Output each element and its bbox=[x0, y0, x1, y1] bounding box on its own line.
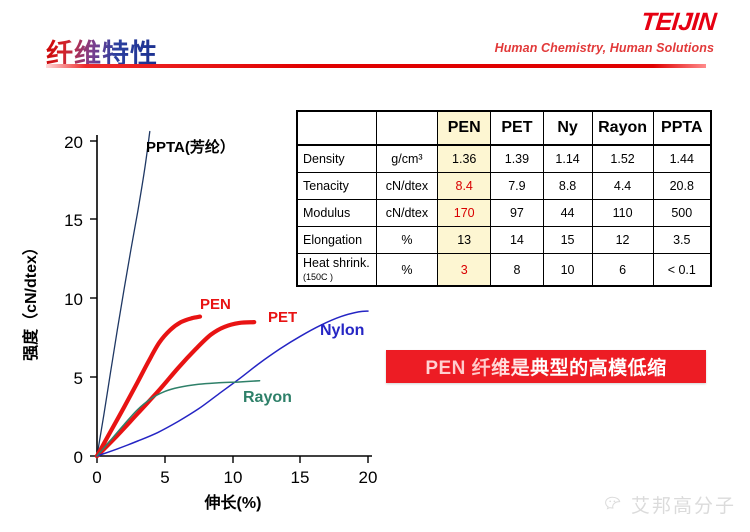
x-axis-tick-labels: 0 5 10 15 20 bbox=[92, 468, 377, 487]
cell-property: Heat shrink.(150C ) bbox=[297, 254, 376, 287]
cell-ny: 8.8 bbox=[543, 173, 592, 200]
curve-label-pen: PEN bbox=[200, 296, 231, 313]
y-tick-0: 0 bbox=[74, 448, 83, 467]
cell-pet: 7.9 bbox=[491, 173, 543, 200]
y-tick-5: 5 bbox=[74, 369, 83, 388]
table-header: PEN PET Ny Rayon PPTA bbox=[297, 111, 711, 145]
table-body: Density g/cm³ 1.36 1.39 1.14 1.52 1.44 T… bbox=[297, 145, 711, 286]
cell-ny: 44 bbox=[543, 200, 592, 227]
cell-property: Tenacity bbox=[297, 173, 376, 200]
slide-canvas: 纤维特性 TEIJIN Human Chemistry, Human Solut… bbox=[0, 0, 750, 532]
table-row: Heat shrink.(150C ) % 3 8 10 6 < 0.1 bbox=[297, 254, 711, 287]
y-axis-tick-labels: 0 5 10 15 20 bbox=[64, 133, 83, 467]
x-tick-10: 10 bbox=[224, 468, 243, 487]
x-axis-ticks bbox=[97, 456, 368, 463]
table-header-row: PEN PET Ny Rayon PPTA bbox=[297, 111, 711, 145]
watermark: 艾邦高分子 bbox=[605, 491, 736, 518]
y-axis-ticks bbox=[90, 141, 97, 456]
wechat-icon bbox=[605, 496, 625, 513]
cell-ppta: 20.8 bbox=[653, 173, 711, 200]
y-tick-15: 15 bbox=[64, 211, 83, 230]
fiber-properties-table: PEN PET Ny Rayon PPTA Density g/cm³ 1.36… bbox=[296, 110, 712, 287]
cell-pen: 1.36 bbox=[438, 145, 491, 173]
teijin-logo: TEIJIN bbox=[640, 8, 718, 37]
cell-ppta: < 0.1 bbox=[653, 254, 711, 287]
cell-ppta: 3.5 bbox=[653, 227, 711, 254]
y-tick-10: 10 bbox=[64, 290, 83, 309]
cell-pet: 1.39 bbox=[491, 145, 543, 173]
cell-pet: 97 bbox=[491, 200, 543, 227]
cell-rayon: 1.52 bbox=[592, 145, 653, 173]
watermark-text: 艾邦高分子 bbox=[631, 491, 736, 518]
x-tick-20: 20 bbox=[359, 468, 378, 487]
cell-unit: cN/dtex bbox=[376, 173, 437, 200]
cell-pen: 170 bbox=[438, 200, 491, 227]
cell-ny: 1.14 bbox=[543, 145, 592, 173]
y-tick-20: 20 bbox=[64, 133, 83, 152]
cell-pen: 8.4 bbox=[438, 173, 491, 200]
cell-ny: 15 bbox=[543, 227, 592, 254]
highlight-banner: PEN 纤维是典型的高模低缩 bbox=[386, 350, 706, 383]
title-underline-rule bbox=[46, 64, 706, 68]
x-tick-0: 0 bbox=[92, 468, 101, 487]
slide-header: 纤维特性 TEIJIN Human Chemistry, Human Solut… bbox=[0, 0, 750, 78]
th-property bbox=[297, 111, 376, 145]
th-ny: Ny bbox=[543, 111, 592, 145]
curve-label-rayon: Rayon bbox=[243, 389, 292, 406]
cell-pen: 3 bbox=[438, 254, 491, 287]
curve-label-pet: PET bbox=[268, 309, 297, 326]
heat-shrink-condition: (150C ) bbox=[303, 272, 333, 282]
cell-property: Elongation bbox=[297, 227, 376, 254]
cell-rayon: 6 bbox=[592, 254, 653, 287]
x-axis-title: 伸长(%) bbox=[204, 493, 262, 512]
y-axis-title: 强度（cN/dtex） bbox=[21, 239, 40, 361]
teijin-tagline: Human Chemistry, Human Solutions bbox=[495, 41, 714, 55]
highlight-banner-text: PEN 纤维是典型的高模低缩 bbox=[425, 353, 666, 380]
cell-ppta: 1.44 bbox=[653, 145, 711, 173]
curve-rayon bbox=[97, 381, 260, 456]
cell-rayon: 4.4 bbox=[592, 173, 653, 200]
curve-pet bbox=[97, 322, 254, 456]
th-rayon: Rayon bbox=[592, 111, 653, 145]
heat-shrink-label: Heat shrink. bbox=[303, 256, 370, 270]
cell-pet: 8 bbox=[491, 254, 543, 287]
th-pen: PEN bbox=[438, 111, 491, 145]
cell-unit: cN/dtex bbox=[376, 200, 437, 227]
cell-property: Modulus bbox=[297, 200, 376, 227]
cell-ny: 10 bbox=[543, 254, 592, 287]
th-pet: PET bbox=[491, 111, 543, 145]
x-tick-5: 5 bbox=[160, 468, 169, 487]
th-unit bbox=[376, 111, 437, 145]
cell-pet: 14 bbox=[491, 227, 543, 254]
th-ppta: PPTA bbox=[653, 111, 711, 145]
cell-unit: % bbox=[376, 254, 437, 287]
cell-unit: g/cm³ bbox=[376, 145, 437, 173]
cell-unit: % bbox=[376, 227, 437, 254]
cell-rayon: 12 bbox=[592, 227, 653, 254]
table-row: Density g/cm³ 1.36 1.39 1.14 1.52 1.44 bbox=[297, 145, 711, 173]
table-row: Modulus cN/dtex 170 97 44 110 500 bbox=[297, 200, 711, 227]
curve-label-nylon: Nylon bbox=[320, 322, 364, 339]
x-tick-15: 15 bbox=[291, 468, 310, 487]
cell-property: Density bbox=[297, 145, 376, 173]
cell-ppta: 500 bbox=[653, 200, 711, 227]
table-row: Tenacity cN/dtex 8.4 7.9 8.8 4.4 20.8 bbox=[297, 173, 711, 200]
table-row: Elongation % 13 14 15 12 3.5 bbox=[297, 227, 711, 254]
cell-pen: 13 bbox=[438, 227, 491, 254]
cell-rayon: 110 bbox=[592, 200, 653, 227]
curve-label-ppta芳纶: PPTA(芳纶） bbox=[146, 138, 235, 156]
